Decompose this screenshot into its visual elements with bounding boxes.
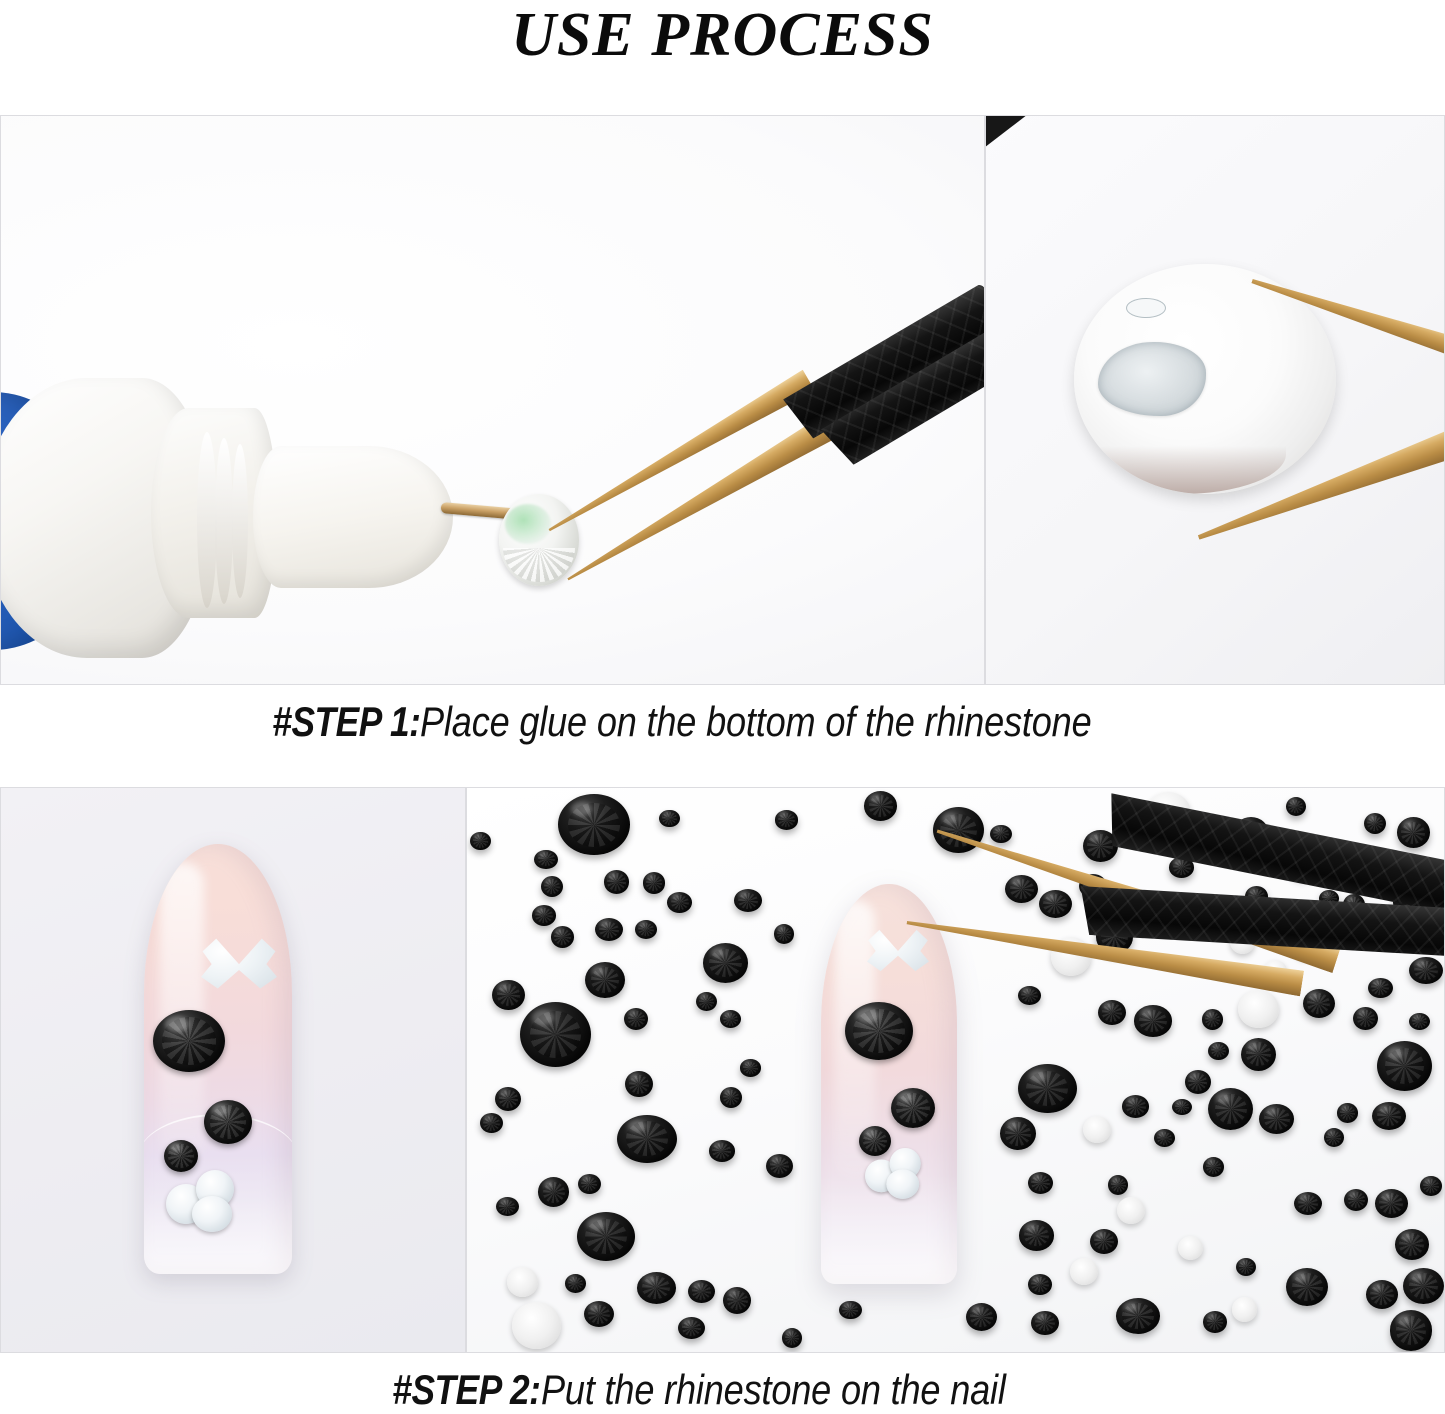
rhinestone-black-flatback [1236, 1258, 1256, 1276]
rhinestone-black-flatback [1018, 986, 1041, 1004]
photo-rhinestones-scatter-with-tweezers [466, 787, 1445, 1353]
rhinestone-black-flatback [1324, 1128, 1344, 1147]
rhinestone-black-flatback [558, 794, 629, 855]
rhinestone-black-flatback [1203, 1311, 1226, 1333]
rhinestone-silver-flatback [1083, 1116, 1111, 1143]
rhinestone-black-flatback [1344, 1189, 1368, 1211]
rhinestone-silver-flatback [1178, 1236, 1203, 1260]
rhinestone-black-flatback [703, 943, 749, 983]
rhinestone-black-flatback [839, 1301, 861, 1320]
step-1-caption: #STEP 1:Place glue on the bottom of the … [0, 698, 1445, 746]
rhinestone-black-small [164, 1140, 198, 1172]
rhinestone-black-flatback [1185, 1070, 1211, 1094]
rhinestone-black-flatback [1039, 890, 1072, 918]
rhinestone-black-flatback [1208, 1042, 1229, 1060]
rhinestone-black-flatback [625, 1071, 652, 1097]
rhinestone-black-flatback [584, 1301, 614, 1327]
rhinestone-black-flatback [1000, 1117, 1036, 1150]
rhinestone-black-flatback [551, 926, 574, 948]
rhinestone-black-flatback [520, 1002, 591, 1067]
rhinestone-black-flatback [470, 832, 491, 851]
rhinestone-black-flatback [637, 1272, 676, 1304]
rhinestone-black-flatback [1377, 1041, 1432, 1091]
rhinestone-black-flatback [532, 905, 557, 926]
rhinestone-black-flatback [1028, 1274, 1052, 1295]
rhinestone-black-flatback [1203, 1157, 1225, 1177]
photo-decorated-nail-sample [0, 787, 466, 1353]
rhinestone-sheen [505, 504, 551, 544]
rhinestone-black-flatback [1286, 797, 1306, 816]
step-2-image-row [0, 787, 1445, 1353]
rhinestone-black-medium [891, 1088, 935, 1128]
rhinestone-black-flatback [541, 876, 563, 897]
rhinestone-black-flatback [1018, 1064, 1076, 1113]
bottle-ridge [197, 432, 217, 608]
step-1-text: Place glue on the bottom of the rhinesto… [420, 698, 1091, 746]
rhinestone-black-flatback [688, 1280, 715, 1303]
step-1-label: #STEP 1: [272, 698, 420, 746]
step-2-caption: #STEP 2:Put the rhinestone on the nail [0, 1366, 1445, 1414]
rhinestone-black-flatback [480, 1113, 503, 1133]
rhinestone-black-flatback [720, 1087, 742, 1108]
rhinestone-black-flatback [1031, 1311, 1058, 1335]
rhinestone-black-flatback [1409, 1013, 1431, 1030]
rhinestone-black-flatback [1019, 1220, 1054, 1250]
rhinestone-black-flatback [1303, 989, 1335, 1018]
clear-crystal [886, 1169, 919, 1199]
rhinestone-black-flatback [617, 1115, 676, 1163]
rhinestone-black-flatback [696, 992, 717, 1011]
rhinestone-black-flatback [1241, 1038, 1276, 1072]
rhinestone-black-flatback [578, 1174, 601, 1194]
rhinestone-black-flatback [1375, 1189, 1408, 1218]
rhinestone-silver-flatback [512, 1302, 560, 1348]
rhinestone-black-flatback [766, 1154, 793, 1178]
clear-crystal-cluster [166, 1170, 244, 1232]
rhinestone-black-flatback [643, 872, 666, 894]
rhinestone-black-flatback [635, 920, 657, 939]
clear-crystal-cluster [865, 1148, 929, 1199]
rhinestone-black-flatback [667, 892, 692, 913]
rhinestone-black-flatback [775, 810, 799, 830]
rhinestone-black-flatback [624, 1008, 648, 1030]
rhinestone-black-flatback [774, 924, 794, 944]
use-process-infographic: USE PROCESS [0, 0, 1445, 1412]
rhinestone-black-flatback [709, 1140, 735, 1161]
rhinestone-black-flatback [966, 1303, 997, 1331]
step-2-text: Put the rhinestone on the nail [541, 1366, 1006, 1414]
rhinestone-black-flatback [782, 1328, 802, 1348]
rhinestone-black-flatback [1259, 1104, 1294, 1134]
rhinestone-black-medium [204, 1100, 252, 1144]
rhinestone-black-flatback [1353, 1007, 1378, 1030]
rhinestone-black-flatback [1122, 1095, 1150, 1118]
rhinestone-black-flatback [1372, 1102, 1406, 1130]
clear-crystal [192, 1196, 232, 1232]
rhinestone-black-flatback [1172, 1099, 1192, 1116]
rhinestone-black-flatback [1409, 957, 1443, 984]
rhinestone-black-flatback [1403, 1268, 1443, 1304]
glue-bubble [1126, 298, 1166, 318]
rhinestone-silver-flatback [1070, 1258, 1098, 1285]
rhinestone-black-flatback [495, 1087, 521, 1111]
rhinestone-black-flatback [595, 918, 623, 941]
rhinestone-black-flatback [1108, 1175, 1128, 1195]
bottle-ridge [232, 444, 248, 598]
glue-bottle-tip [253, 446, 453, 588]
rhinestone-black-flatback [534, 850, 558, 870]
rhinestone-black-flatback [492, 980, 525, 1010]
rhinestone-black-flatback [496, 1197, 519, 1216]
rhinestone-black-flatback [933, 807, 984, 853]
page-title: USE PROCESS [0, 0, 1445, 72]
rhinestone-black-flatback [678, 1317, 705, 1339]
rhinestone-black-flatback [723, 1287, 751, 1314]
step-2-label: #STEP 2: [392, 1366, 540, 1414]
rhinestone-black-flatback [1116, 1298, 1160, 1334]
rhinestone-black-flatback [1337, 1103, 1358, 1122]
rhinestone-silver-flatback [1117, 1197, 1145, 1224]
rhinestone-black-flatback [864, 791, 897, 820]
bottle-ridge [215, 438, 233, 604]
rhinestone-black-flatback [565, 1274, 586, 1293]
glue-blob [1098, 342, 1206, 416]
rhinestone-black-flatback [734, 889, 762, 912]
rhinestone-black-flatback [1005, 875, 1038, 903]
rhinestone-black-flatback [1286, 1268, 1328, 1307]
rhinestone-black-flatback [659, 810, 679, 828]
rhinestone-black-flatback [1390, 1310, 1433, 1350]
rhinestone-receiving-glue [499, 494, 579, 586]
rhinestone-black-flatback [1208, 1088, 1253, 1130]
rhinestone-black-flatback [1090, 1229, 1118, 1254]
rhinestone-black-flatback [1366, 1280, 1398, 1309]
photo-rhinestone-closeup-with-glue [985, 115, 1445, 685]
step-1-image-row [0, 115, 1445, 685]
rhinestone-black-flatback [1028, 1172, 1053, 1194]
rhinestone-black-flatback [1154, 1129, 1175, 1147]
rhinestone-black-flatback [1368, 978, 1393, 999]
photo-glue-applied-to-rhinestone [0, 115, 985, 685]
rhinestone-black-flatback [604, 870, 630, 894]
rhinestone-black-flatback [1420, 1176, 1442, 1196]
rhinestone-silver-flatback [1232, 1297, 1257, 1321]
rhinestone-black-flatback [538, 1177, 569, 1206]
rhinestone-silver-flatback [1238, 990, 1279, 1029]
rhinestone-silver-flatback [507, 1267, 538, 1297]
rhinestone-black-large [153, 1010, 225, 1072]
rhinestone-black-flatback [740, 1059, 761, 1076]
rhinestone-black-flatback [1364, 813, 1386, 834]
rhinestone-black-flatback [1202, 1009, 1223, 1029]
rhinestone-black-flatback [1134, 1005, 1173, 1036]
rhinestone-black-flatback [720, 1010, 742, 1028]
rhinestone-black-flatback [577, 1212, 635, 1261]
rhinestone-black-flatback [585, 962, 624, 998]
rhinestone-black-flatback [1098, 1000, 1126, 1025]
rhinestone-black-flatback [1294, 1192, 1322, 1215]
rhinestone-black-flatback [1397, 817, 1430, 848]
rhinestone-black-flatback [990, 825, 1012, 843]
rhinestone-black-flatback [1395, 1229, 1430, 1260]
rhinestone-black-large [845, 1002, 913, 1060]
